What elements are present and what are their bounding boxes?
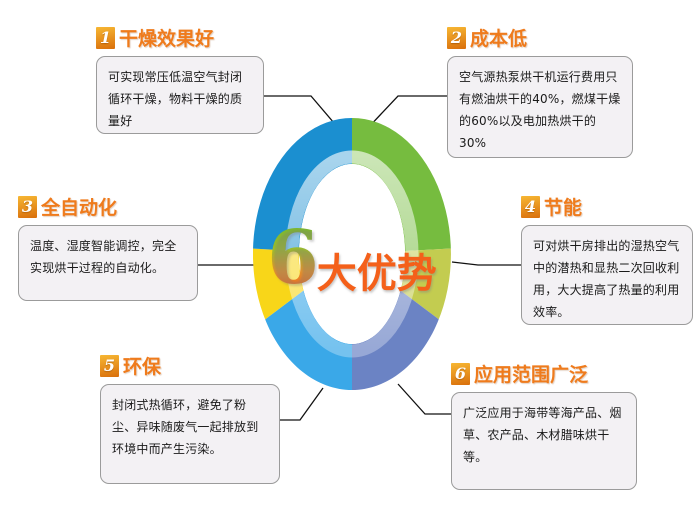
feature-2-body: 空气源热泵烘干机运行费用只有燃油烘干的40%，燃煤干燥的60%以及电加热烘干的3… [459, 66, 622, 154]
feature-5-body: 封闭式热循环，避免了粉尘、异味随废气一起排放到环境中而产生污染。 [112, 394, 269, 460]
feature-3-card: 温度、湿度智能调控，完全实现烘干过程的自动化。 [18, 225, 198, 301]
feature-1-body: 可实现常压低温空气封闭循环干燥，物料干燥的质量好 [108, 66, 253, 132]
feature-4-title: 节能 [544, 193, 582, 220]
feature-4-badge: 4 [521, 196, 540, 218]
feature-3-header: 3 全自动化 [18, 193, 198, 220]
feature-2-card: 空气源热泵烘干机运行费用只有燃油烘干的40%，燃煤干燥的60%以及电加热烘干的3… [447, 56, 633, 158]
feature-4-body: 可对烘干房排出的湿热空气中的潜热和显热二次回收利用，大大提高了热量的利用效率。 [533, 235, 682, 323]
feature-block-5[interactable]: 5 环保 封闭式热循环，避免了粉尘、异味随废气一起排放到环境中而产生污染。 [100, 352, 280, 484]
feature-1-title: 干燥效果好 [119, 24, 214, 51]
feature-3-body: 温度、湿度智能调控，完全实现烘干过程的自动化。 [30, 235, 187, 279]
feature-5-title: 环保 [123, 352, 161, 379]
feature-2-title: 成本低 [470, 24, 527, 51]
center-label-text: 大优势 [317, 241, 437, 299]
feature-4-card: 可对烘干房排出的湿热空气中的潜热和显热二次回收利用，大大提高了热量的利用效率。 [521, 225, 693, 325]
feature-6-badge: 6 [451, 363, 470, 385]
feature-3-title: 全自动化 [41, 193, 117, 220]
feature-1-badge: 1 [96, 27, 115, 49]
feature-1-card: 可实现常压低温空气封闭循环干燥，物料干燥的质量好 [96, 56, 264, 134]
feature-block-4[interactable]: 4 节能 可对烘干房排出的湿热空气中的潜热和显热二次回收利用，大大提高了热量的利… [521, 193, 693, 325]
connector-line-5 [280, 388, 323, 420]
feature-6-body: 广泛应用于海带等海产品、烟草、农产品、木材腊味烘干等。 [463, 402, 626, 468]
feature-block-3[interactable]: 3 全自动化 温度、湿度智能调控，完全实现烘干过程的自动化。 [18, 193, 198, 301]
feature-1-header: 1 干燥效果好 [96, 24, 264, 51]
feature-2-header: 2 成本低 [447, 24, 633, 51]
connector-line-4 [452, 262, 521, 265]
feature-block-1[interactable]: 1 干燥效果好 可实现常压低温空气封闭循环干燥，物料干燥的质量好 [96, 24, 264, 134]
feature-6-title: 应用范围广泛 [474, 360, 588, 387]
feature-block-6[interactable]: 6 应用范围广泛 广泛应用于海带等海产品、烟草、农产品、木材腊味烘干等。 [451, 360, 637, 490]
infographic-canvas: 6 大优势 1 干燥效果好 可实现常压低温空气封闭循环干燥，物料干燥的质量好 2… [0, 0, 700, 506]
feature-2-badge: 2 [447, 27, 466, 49]
feature-6-header: 6 应用范围广泛 [451, 360, 637, 387]
feature-4-header: 4 节能 [521, 193, 693, 220]
feature-5-badge: 5 [100, 355, 119, 377]
feature-5-card: 封闭式热循环，避免了粉尘、异味随废气一起排放到环境中而产生污染。 [100, 384, 280, 484]
feature-6-card: 广泛应用于海带等海产品、烟草、农产品、木材腊味烘干等。 [451, 392, 637, 490]
feature-3-badge: 3 [18, 196, 37, 218]
center-number: 6 [267, 227, 319, 291]
donut-center-label: 6 大优势 [253, 220, 451, 306]
feature-5-header: 5 环保 [100, 352, 280, 379]
feature-block-2[interactable]: 2 成本低 空气源热泵烘干机运行费用只有燃油烘干的40%，燃煤干燥的60%以及电… [447, 24, 633, 158]
